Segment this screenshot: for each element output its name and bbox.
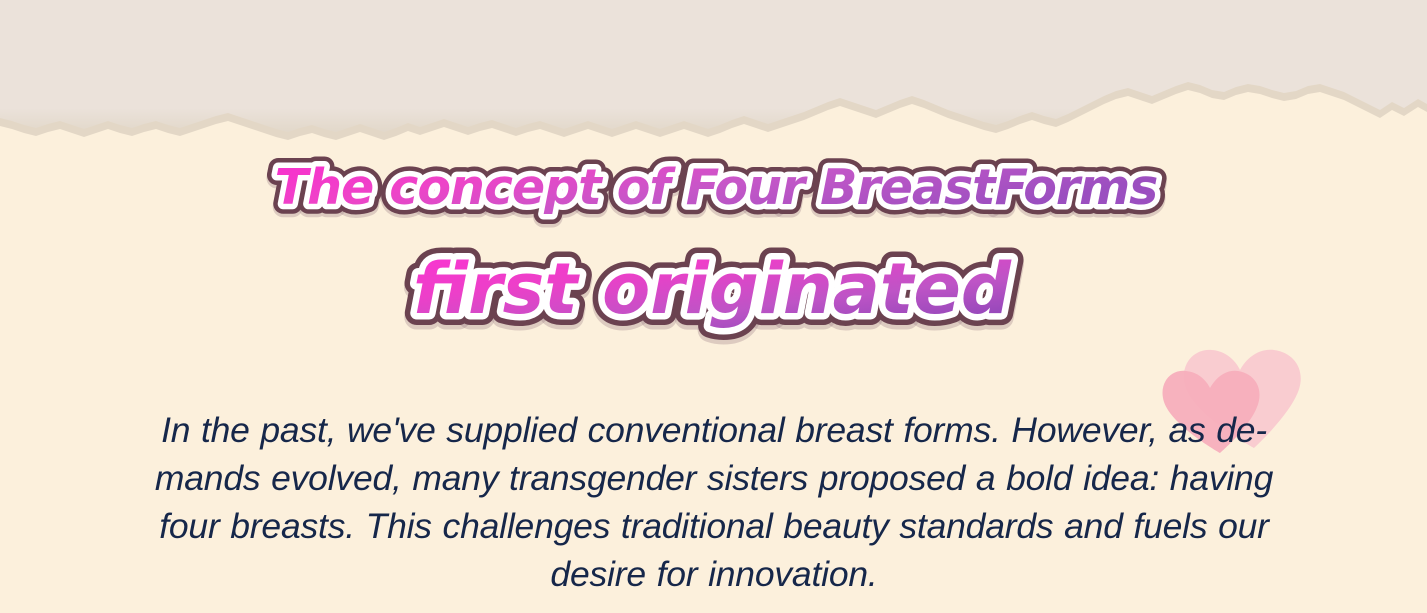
headline-line-2-fill: first originated xyxy=(413,248,1012,330)
headline-line-1: The concept of Four BreastForms The conc… xyxy=(275,159,1158,219)
body-line-3: four breasts. This challenges traditiona… xyxy=(90,502,1338,550)
headline-line-1-shadow: The concept of Four BreastForms xyxy=(275,162,1158,219)
page-root: The concept of Four BreastForms The conc… xyxy=(0,0,1427,613)
headline-line-2-inner-stroke: first originated xyxy=(413,248,1012,330)
torn-strip-fill xyxy=(0,0,1427,132)
body-line-4: desire for innovation. xyxy=(90,550,1338,598)
body-line-2: mands evolved, many transgender sisters … xyxy=(90,454,1338,502)
torn-paper-edge xyxy=(0,0,1427,142)
body-paragraph: In the past, we've supplied conventional… xyxy=(90,406,1338,598)
headline-line-2-outer-stroke: first originated xyxy=(413,248,1012,330)
headline-line-1-fill: The concept of Four BreastForms xyxy=(275,159,1158,216)
headline-line-1-inner-stroke: The concept of Four BreastForms xyxy=(275,159,1158,216)
body-line-1: In the past, we've supplied conventional… xyxy=(90,406,1338,454)
headline-line-2: first originated first originated first … xyxy=(413,248,1012,334)
headline-line-1-outer-stroke: The concept of Four BreastForms xyxy=(275,159,1158,216)
headline-line-2-shadow: first originated xyxy=(413,252,1012,334)
